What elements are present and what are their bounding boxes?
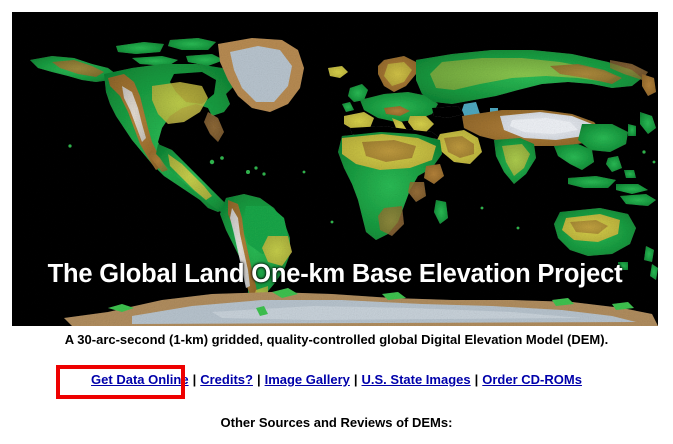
link-separator-4: |	[471, 372, 483, 387]
dem-caption: A 30-arc-second (1-km) gridded, quality-…	[0, 332, 673, 347]
image-gallery-link[interactable]: Image Gallery	[265, 372, 350, 387]
credits-link[interactable]: Credits?	[200, 372, 253, 387]
us-state-images-link[interactable]: U.S. State Images	[362, 372, 471, 387]
page-root: The Global Land One-km Base Elevation Pr…	[0, 0, 673, 444]
link-separator-2: |	[253, 372, 265, 387]
world-elevation-map-banner: The Global Land One-km Base Elevation Pr…	[12, 12, 658, 326]
link-separator-1: |	[189, 372, 201, 387]
link-separator-3: |	[350, 372, 362, 387]
order-cdroms-link[interactable]: Order CD-ROMs	[482, 372, 582, 387]
get-data-online-link[interactable]: Get Data Online	[91, 372, 189, 387]
banner-title: The Global Land One-km Base Elevation Pr…	[12, 260, 658, 289]
primary-link-bar: Get Data Online|Credits?|Image Gallery|U…	[0, 372, 673, 387]
other-sources-heading: Other Sources and Reviews of DEMs:	[0, 415, 673, 430]
